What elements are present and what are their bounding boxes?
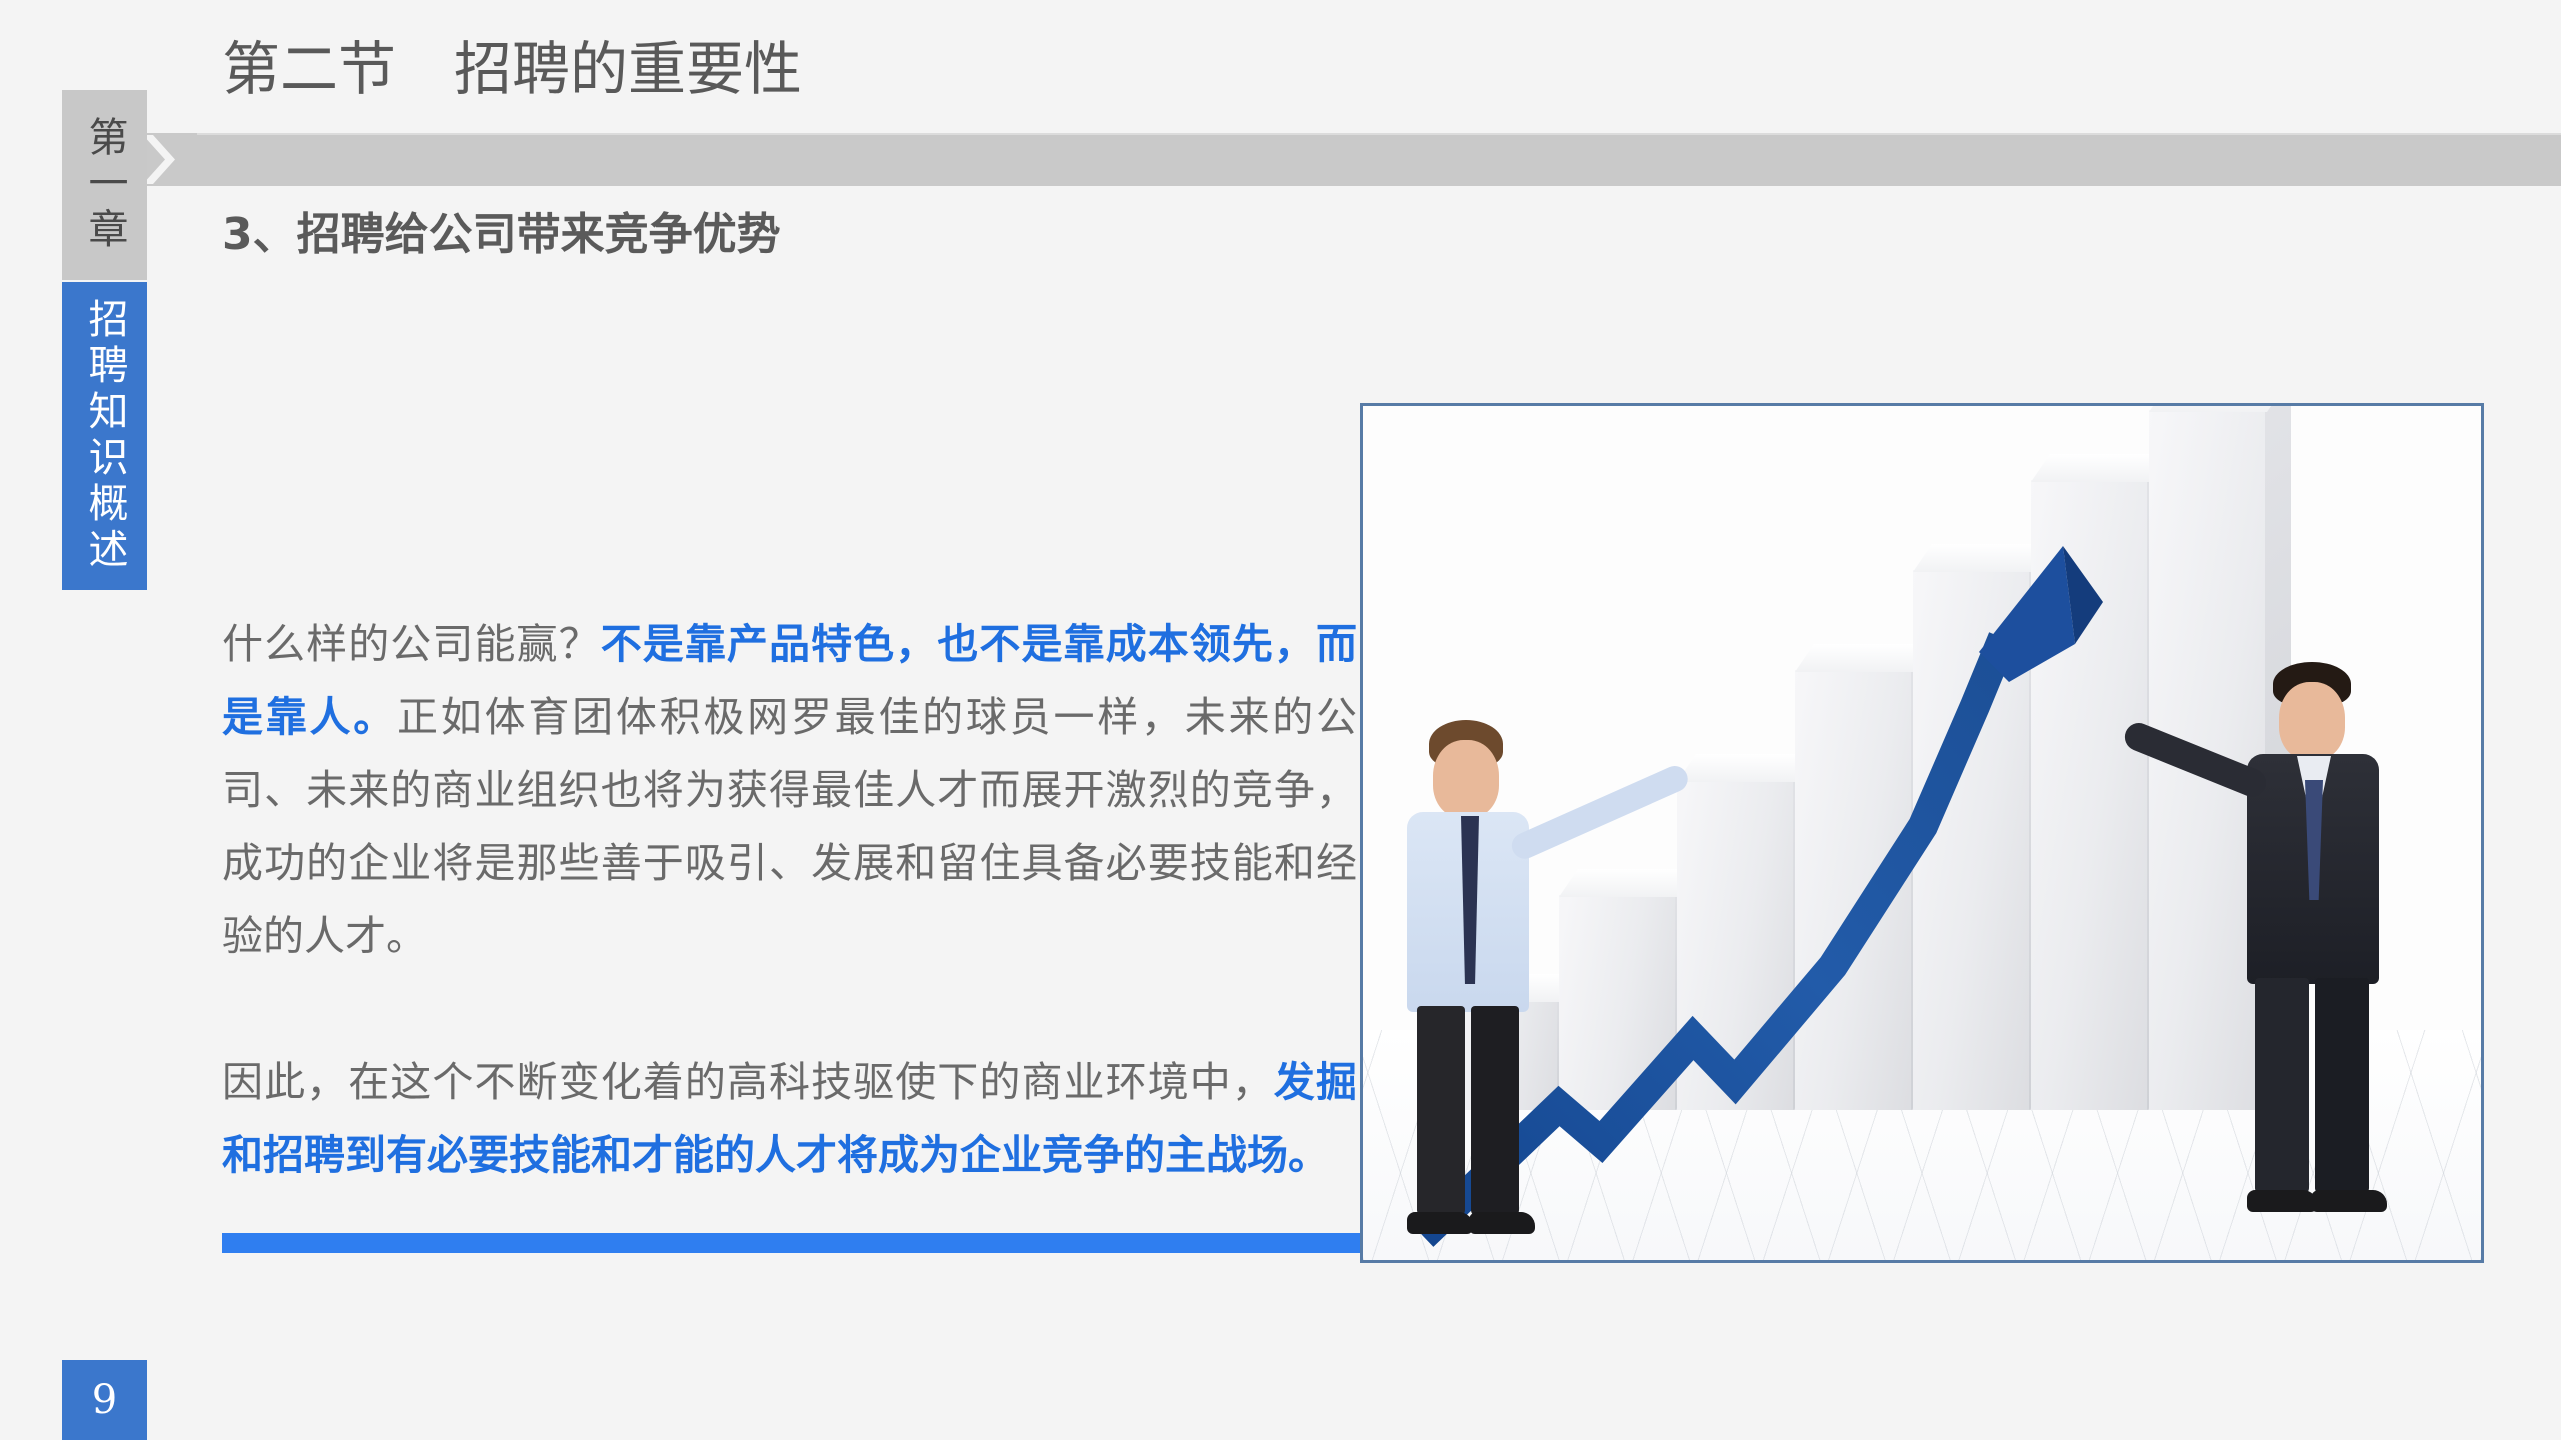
chevron-right-icon — [147, 133, 197, 186]
sidebar-tab-chapter-label: 第一章 — [76, 116, 134, 254]
paragraph-2: 因此，在这个不断变化着的高科技驱使下的商业环境中，发掘和招聘到有必要技能和才能的… — [222, 1046, 1357, 1192]
accent-underline-bar — [222, 1233, 1422, 1253]
person-right — [2199, 662, 2449, 1222]
growth-chart-photo — [1360, 403, 2484, 1263]
sidebar-tab-chapter[interactable]: 第一章 — [62, 90, 147, 280]
person-left-leg-1 — [1417, 1006, 1465, 1216]
person-right-shoe-1 — [2247, 1190, 2317, 1212]
person-left-shoe-1 — [1407, 1212, 1473, 1234]
p2-lead: 因此，在这个不断变化着的高科技驱使下的商业环境中， — [222, 1058, 1274, 1106]
person-left — [1377, 720, 1607, 1240]
paragraph-spacer — [222, 973, 1357, 1046]
page-number-badge: 9 — [62, 1360, 147, 1440]
person-right-head — [2279, 682, 2345, 760]
person-right-shoe-2 — [2311, 1190, 2387, 1212]
body-copy: 什么样的公司能赢？不是靠产品特色，也不是靠成本领先，而是靠人。正如体育团体积极网… — [222, 608, 1357, 1192]
page-title: 第二节 招聘的重要性 — [222, 22, 802, 106]
section-heading: 3、招聘给公司带来竞争优势 — [222, 198, 781, 262]
person-right-leg-1 — [2255, 978, 2309, 1194]
person-left-leg-2 — [1471, 1006, 1519, 1216]
slide-canvas: 第一章 招聘知识概述 第二节 招聘的重要性 3、招聘给公司带来竞争优势 什么样的… — [0, 0, 2561, 1440]
sidebar-tab-section-label: 招聘知识概述 — [76, 298, 134, 574]
photo-inner — [1363, 406, 2481, 1260]
person-right-leg-2 — [2315, 978, 2369, 1194]
paragraph-1: 什么样的公司能赢？不是靠产品特色，也不是靠成本领先，而是靠人。正如体育团体积极网… — [222, 608, 1357, 973]
person-left-shoe-2 — [1469, 1212, 1535, 1234]
p1-lead: 什么样的公司能赢？ — [222, 620, 601, 668]
person-left-head — [1433, 740, 1499, 818]
header-band — [147, 133, 2561, 186]
sidebar-tab-section[interactable]: 招聘知识概述 — [62, 282, 147, 590]
